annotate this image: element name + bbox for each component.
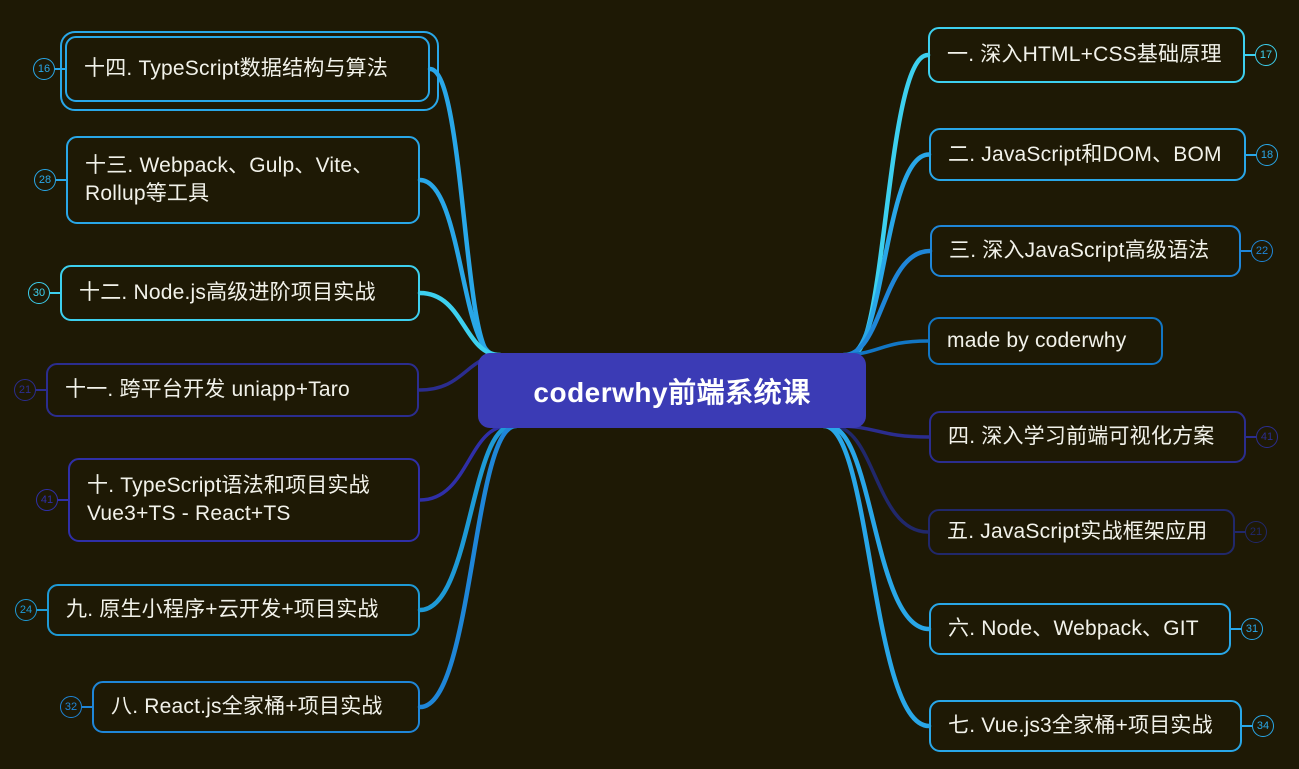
node-badge[interactable]: 21 [14,379,36,401]
node-badge-stem [1245,54,1255,56]
mindmap-node-left-7[interactable]: 八. React.js全家桶+项目实战 [92,681,420,733]
node-label: 七. Vue.js3全家桶+项目实战 [948,712,1213,740]
node-badge-stem [58,499,68,501]
node-badge[interactable]: 32 [60,696,82,718]
node-label: 十三. Webpack、Gulp、Vite、 Rollup等工具 [85,152,373,208]
node-badge-count: 21 [19,384,31,396]
connector [420,293,500,355]
node-badge-count: 34 [1257,720,1269,732]
node-badge-count: 30 [33,287,45,299]
mindmap-node-right-2[interactable]: 二. JavaScript和DOM、BOM [929,128,1246,181]
node-badge[interactable]: 17 [1255,44,1277,66]
mindmap-node-right-6[interactable]: 五. JavaScript实战框架应用 [928,509,1235,555]
node-label: 六. Node、Webpack、GIT [948,615,1199,643]
mindmap-node-left-1[interactable]: 十四. TypeScript数据结构与算法 [65,36,430,102]
node-badge[interactable]: 30 [28,282,50,304]
node-badge-count: 21 [1250,526,1262,538]
connector [848,155,929,356]
node-badge-count: 24 [20,604,32,616]
node-badge[interactable]: 21 [1245,521,1267,543]
node-label: 九. 原生小程序+云开发+项目实战 [66,596,379,624]
connector [420,180,496,355]
mindmap-node-left-4[interactable]: 十一. 跨平台开发 uniapp+Taro [46,363,419,417]
node-label: made by coderwhy [947,327,1126,355]
node-badge-count: 32 [65,701,77,713]
connector [832,426,928,532]
mindmap-node-right-7[interactable]: 六. Node、Webpack、GIT [929,603,1231,655]
mindmap-node-right-3[interactable]: 三. 深入JavaScript高级语法 [930,225,1241,277]
node-badge-stem [1231,628,1241,630]
node-badge-stem [50,292,60,294]
mindmap-canvas[interactable]: coderwhy前端系统课一. 深入HTML+CSS基础原理17二. JavaS… [0,0,1299,769]
node-badge-stem [82,706,92,708]
center-node-label: coderwhy前端系统课 [533,371,810,411]
node-badge[interactable]: 22 [1251,240,1273,262]
connector [420,426,516,707]
node-badge[interactable]: 28 [34,169,56,191]
node-badge-stem [36,389,46,391]
connector [420,426,512,610]
node-label: 五. JavaScript实战框架应用 [947,518,1208,546]
node-badge-stem [1246,436,1256,438]
node-label: 四. 深入学习前端可视化方案 [948,423,1214,451]
connector [828,426,929,629]
connector [420,426,508,500]
mindmap-node-left-6[interactable]: 九. 原生小程序+云开发+项目实战 [47,584,420,636]
node-badge-stem [1235,531,1245,533]
connector [824,426,929,726]
connector [852,55,928,355]
node-badge-stem [1246,154,1256,156]
node-badge-stem [1242,725,1252,727]
node-label: 十. TypeScript语法和项目实战 Vue3+TS - React+TS [87,472,370,528]
node-badge-count: 31 [1246,623,1258,635]
node-badge-count: 17 [1260,49,1272,61]
node-badge[interactable]: 31 [1241,618,1263,640]
connector [844,251,930,355]
node-badge-count: 28 [39,174,51,186]
node-badge[interactable]: 18 [1256,144,1278,166]
node-badge[interactable]: 41 [36,489,58,511]
node-badge-stem [55,68,65,70]
node-badge-count: 16 [38,63,50,75]
node-badge-stem [37,609,47,611]
node-badge[interactable]: 16 [33,58,55,80]
mindmap-node-left-3[interactable]: 十二. Node.js高级进阶项目实战 [60,265,420,321]
node-label: 十一. 跨平台开发 uniapp+Taro [65,376,350,404]
node-label: 十四. TypeScript数据结构与算法 [84,55,388,83]
center-node[interactable]: coderwhy前端系统课 [478,353,866,428]
node-badge[interactable]: 34 [1252,715,1274,737]
node-badge-count: 18 [1261,149,1273,161]
node-label: 十二. Node.js高级进阶项目实战 [79,279,376,307]
mindmap-node-right-5[interactable]: 四. 深入学习前端可视化方案 [929,411,1246,463]
mindmap-node-left-2[interactable]: 十三. Webpack、Gulp、Vite、 Rollup等工具 [66,136,420,224]
node-label: 三. 深入JavaScript高级语法 [949,237,1210,265]
mindmap-node-right-8[interactable]: 七. Vue.js3全家桶+项目实战 [929,700,1242,752]
node-badge-count: 41 [41,494,53,506]
node-badge-count: 22 [1256,245,1268,257]
node-badge-stem [1241,250,1251,252]
mindmap-node-right-4[interactable]: made by coderwhy [928,317,1163,365]
node-label: 一. 深入HTML+CSS基础原理 [947,41,1222,69]
mindmap-node-right-1[interactable]: 一. 深入HTML+CSS基础原理 [928,27,1245,83]
node-badge[interactable]: 24 [15,599,37,621]
node-label: 八. React.js全家桶+项目实战 [111,693,383,721]
node-badge[interactable]: 41 [1256,426,1278,448]
node-badge-count: 41 [1261,431,1273,443]
connector [430,69,492,355]
mindmap-node-left-5[interactable]: 十. TypeScript语法和项目实战 Vue3+TS - React+TS [68,458,420,542]
node-badge-stem [56,179,66,181]
node-label: 二. JavaScript和DOM、BOM [948,141,1222,169]
